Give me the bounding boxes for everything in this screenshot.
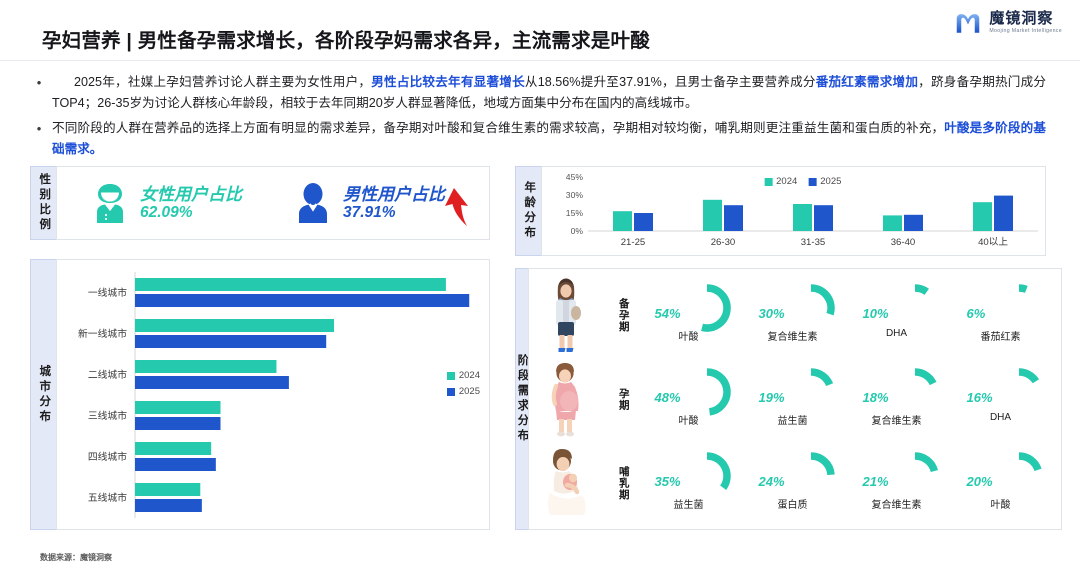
city-bar-2025-二线城市	[135, 376, 289, 389]
donut-label: DHA	[963, 412, 1039, 423]
gender-item-male: 男性用户占比 37.91%	[294, 182, 445, 224]
donut-arc-path	[702, 288, 727, 328]
data-source-note: 数据来源：魔镜洞察	[40, 552, 112, 563]
donut-percent: 16%	[967, 390, 993, 405]
donut-label: 叶酸	[963, 496, 1039, 511]
bullet-highlight: 男性占比较去年有显著增长	[371, 75, 525, 89]
male-label: 男性用户占比 37.91%	[343, 185, 445, 221]
donut-percent: 20%	[967, 474, 993, 489]
city-panel-tab: 城市分布	[30, 259, 56, 530]
city-bar-2024-四线城市	[135, 442, 211, 455]
male-name: 男性用户占比	[343, 185, 445, 204]
donut-percent: 35%	[655, 474, 681, 489]
stage-panel-body: 备孕期54%叶酸30%复合维生素10%DHA6%番茄红素孕期48%叶酸19%益生…	[528, 268, 1062, 530]
age-panel-tab: 年龄分布	[515, 166, 541, 256]
age-panel-tab-label: 年龄分布	[523, 181, 535, 241]
brand-text: 魔镜洞察 Moojing Market Intelligence	[989, 11, 1062, 35]
donut-percent: 19%	[759, 390, 785, 405]
donut-arc-path	[707, 456, 727, 488]
bullet-dot: •	[34, 72, 44, 114]
age-bar-2024-31-35	[793, 204, 812, 231]
city-chart-svg: 一线城市新一线城市二线城市三线城市四线城市五线城市	[57, 260, 489, 529]
age-bar-2025-40以上	[994, 196, 1013, 231]
donut-cell: 54%叶酸	[645, 278, 749, 352]
age-ytick-label: 30%	[566, 190, 584, 200]
city-bar-2025-新一线城市	[135, 335, 326, 348]
donut-group: 35%益生菌24%蛋白质21%复合维生素20%叶酸	[645, 446, 1061, 520]
stage-row: 备孕期54%叶酸30%复合维生素10%DHA6%番茄红素	[529, 273, 1061, 357]
age-bar-2024-36-40	[883, 215, 902, 231]
legend-item-2025: 2025	[447, 386, 480, 397]
brand-subtitle: Moojing Market Intelligence	[989, 29, 1062, 35]
donut-arc-path	[915, 372, 933, 383]
donut-arc-path	[915, 288, 927, 292]
age-xtick-label: 36-40	[891, 237, 916, 248]
female-value: 62.09%	[140, 204, 242, 221]
legend-item-2025: 2025	[808, 176, 841, 187]
legend-label-2024: 2024	[776, 176, 797, 187]
legend-item-2024: 2024	[764, 176, 797, 187]
bullet-highlight: 番茄红素需求增加	[816, 75, 918, 89]
stage-demand-panel: 阶段需求分布 备孕期54%叶酸30%复合维生素10%DHA6%番茄红素孕期48%…	[515, 268, 1046, 530]
legend-label-2025: 2025	[820, 176, 841, 187]
donut-cell: 10%DHA	[853, 278, 957, 352]
donut-cell: 20%叶酸	[957, 446, 1061, 520]
donut-percent: 10%	[863, 306, 889, 321]
age-xtick-label: 40以上	[978, 237, 1008, 248]
legend-swatch-2025	[447, 388, 455, 396]
male-value: 37.91%	[343, 204, 445, 221]
gender-panel-body: 女性用户占比 62.09% 男性用户占比 37.91%	[56, 166, 490, 240]
age-bar-2024-40以上	[973, 202, 992, 231]
city-panel-body: 一线城市新一线城市二线城市三线城市四线城市五线城市 2024 2025	[56, 259, 490, 530]
age-distribution-panel: 年龄分布 45%30%15%0%21-2526-3031-3536-4040以上…	[515, 166, 1046, 256]
age-bar-2024-26-30	[703, 200, 722, 231]
age-ytick-label: 45%	[566, 172, 584, 182]
female-user-icon	[91, 182, 129, 224]
donut-cell: 6%番茄红素	[957, 278, 1061, 352]
bullet-dot: •	[34, 118, 44, 160]
donut-group: 54%叶酸30%复合维生素10%DHA6%番茄红素	[645, 278, 1061, 352]
bullet-text: 不同阶段的人群在营养品的选择上方面有明显的需求差异，备孕期对叶酸和复合维生素的需…	[52, 118, 1046, 160]
legend-swatch-2024	[764, 178, 772, 186]
age-xtick-label: 26-30	[711, 237, 736, 248]
city-panel-tab-label: 城市分布	[38, 365, 50, 425]
nursing-mother-illustration	[529, 447, 603, 519]
donut-percent: 6%	[967, 306, 986, 321]
city-ytick-label: 二线城市	[88, 368, 127, 381]
legend-swatch-2025	[808, 178, 816, 186]
city-bar-2025-五线城市	[135, 499, 202, 512]
donut-percent: 24%	[759, 474, 785, 489]
gender-panel-tab: 性别比例	[30, 166, 56, 240]
city-ytick-label: 新一线城市	[78, 327, 127, 340]
title-divider	[0, 60, 1080, 61]
brand-name: 魔镜洞察	[989, 11, 1062, 28]
donut-cell: 16%DHA	[957, 362, 1061, 436]
donut-cell: 18%复合维生素	[853, 362, 957, 436]
donut-arc-path	[1019, 456, 1038, 470]
donut-arc-path	[915, 456, 934, 471]
gender-panel-tab-label: 性别比例	[38, 173, 50, 233]
city-bar-2025-四线城市	[135, 458, 216, 471]
stage-label-text: 哺乳期	[618, 466, 629, 501]
city-bar-2025-三线城市	[135, 417, 221, 430]
city-bar-2024-二线城市	[135, 360, 276, 373]
donut-label: 叶酸	[651, 328, 727, 343]
moojing-m-logo-icon	[953, 8, 983, 38]
female-label: 女性用户占比 62.09%	[140, 185, 242, 221]
donut-label: 叶酸	[651, 412, 727, 427]
donut-arc-path	[811, 372, 830, 385]
bullet-plain: 从18.56%提升至37.91%，且男士备孕主要营养成分	[525, 75, 816, 89]
stage-row: 哺乳期35%益生菌24%蛋白质21%复合维生素20%叶酸	[529, 441, 1061, 525]
stage-label: 孕期	[603, 388, 645, 411]
donut-label: 复合维生素	[859, 496, 935, 511]
gender-item-female: 女性用户占比 62.09%	[91, 182, 242, 224]
age-bar-2025-21-25	[634, 213, 653, 231]
donut-label: 番茄红素	[963, 328, 1039, 343]
pregnant-woman-illustration	[529, 361, 603, 437]
donut-percent: 18%	[863, 390, 889, 405]
stage-row-list: 备孕期54%叶酸30%复合维生素10%DHA6%番茄红素孕期48%叶酸19%益生…	[529, 269, 1061, 529]
male-user-icon	[294, 182, 332, 224]
city-ytick-label: 五线城市	[88, 491, 127, 504]
stage-panel-tab-label: 阶段需求分布	[516, 354, 528, 444]
donut-arc-path	[707, 372, 727, 412]
age-bar-2025-36-40	[904, 215, 923, 231]
age-xtick-label: 31-35	[801, 237, 826, 248]
donut-label: 复合维生素	[755, 328, 831, 343]
bullet-item: • 2025年，社媒上孕妇营养讨论人群主要为女性用户，男性占比较去年有显著增长从…	[34, 72, 1046, 114]
bullet-plain: 不同阶段的人群在营养品的选择上方面有明显的需求差异，备孕期对叶酸和复合维生素的需…	[52, 121, 944, 135]
city-bar-2025-一线城市	[135, 294, 469, 307]
stage-row: 孕期48%叶酸19%益生菌18%复合维生素16%DHA	[529, 357, 1061, 441]
age-bar-chart: 45%30%15%0%21-2526-3031-3536-4040以上 2024…	[542, 167, 1045, 255]
stage-label: 哺乳期	[603, 466, 645, 501]
donut-cell: 21%复合维生素	[853, 446, 957, 520]
stage-label: 备孕期	[603, 298, 645, 333]
slide-page: 魔镜洞察 Moojing Market Intelligence 孕妇营养 | …	[0, 0, 1080, 579]
donut-percent: 21%	[863, 474, 889, 489]
donut-label: 益生菌	[755, 412, 831, 427]
donut-percent: 30%	[759, 306, 785, 321]
donut-label: 益生菌	[651, 496, 727, 511]
city-bar-chart: 一线城市新一线城市二线城市三线城市四线城市五线城市 2024 2025	[57, 260, 489, 529]
donut-arc-path	[1019, 372, 1036, 381]
legend-item-2024: 2024	[447, 370, 480, 381]
legend-label-2025: 2025	[459, 386, 480, 397]
donut-arc-path	[811, 456, 831, 475]
donut-label: 蛋白质	[755, 496, 831, 511]
donut-cell: 30%复合维生素	[749, 278, 853, 352]
city-ytick-label: 三线城市	[88, 409, 127, 422]
city-bar-2024-三线城市	[135, 401, 221, 414]
page-title: 孕妇营养 | 男性备孕需求增长，各阶段孕妈需求各异，主流需求是叶酸	[42, 24, 650, 53]
donut-percent: 48%	[655, 390, 681, 405]
city-ytick-label: 一线城市	[88, 286, 127, 299]
age-bar-2025-26-30	[724, 205, 743, 231]
city-distribution-panel: 城市分布 一线城市新一线城市二线城市三线城市四线城市五线城市 2024 2025	[30, 259, 490, 530]
female-name: 女性用户占比	[140, 185, 242, 204]
city-chart-legend: 2024 2025	[447, 370, 480, 397]
age-panel-body: 45%30%15%0%21-2526-3031-3536-4040以上 2024…	[541, 166, 1046, 256]
donut-cell: 35%益生菌	[645, 446, 749, 520]
age-ytick-label: 0%	[571, 226, 584, 236]
city-bar-2024-五线城市	[135, 483, 200, 496]
donut-arc-path	[1019, 288, 1026, 289]
city-bar-2024-新一线城市	[135, 319, 334, 332]
stage-label-text: 孕期	[618, 388, 629, 411]
stage-label-text: 备孕期	[618, 298, 629, 333]
age-xtick-label: 21-25	[621, 237, 646, 248]
bullet-item: • 不同阶段的人群在营养品的选择上方面有明显的需求差异，备孕期对叶酸和复合维生素…	[34, 118, 1046, 160]
age-chart-legend: 2024 2025	[764, 176, 841, 187]
donut-cell: 24%蛋白质	[749, 446, 853, 520]
age-bar-2024-21-25	[613, 211, 632, 231]
donut-label: 复合维生素	[859, 412, 935, 427]
brand-logo: 魔镜洞察 Moojing Market Intelligence	[953, 8, 1062, 38]
age-ytick-label: 15%	[566, 208, 584, 218]
donut-percent: 54%	[655, 306, 681, 321]
red-up-arrow-icon	[437, 186, 471, 228]
legend-label-2024: 2024	[459, 370, 480, 381]
gender-ratio-panel: 性别比例 女性用户占比 62.09%	[30, 166, 490, 240]
legend-swatch-2024	[447, 372, 455, 380]
stage-panel-tab: 阶段需求分布	[515, 268, 528, 530]
donut-group: 48%叶酸19%益生菌18%复合维生素16%DHA	[645, 362, 1061, 436]
city-bar-2024-一线城市	[135, 278, 446, 291]
donut-cell: 48%叶酸	[645, 362, 749, 436]
age-bar-2025-31-35	[814, 205, 833, 231]
donut-arc-path	[811, 288, 831, 314]
bullet-text: 2025年，社媒上孕妇营养讨论人群主要为女性用户，男性占比较去年有显著增长从18…	[52, 72, 1046, 114]
donut-label: DHA	[859, 328, 935, 339]
highlight-annotation	[437, 186, 471, 233]
donut-cell: 19%益生菌	[749, 362, 853, 436]
city-ytick-label: 四线城市	[88, 450, 127, 463]
summary-bullets: • 2025年，社媒上孕妇营养讨论人群主要为女性用户，男性占比较去年有显著增长从…	[34, 72, 1046, 164]
woman-standing-illustration	[529, 277, 603, 353]
bullet-plain: 2025年，社媒上孕妇营养讨论人群主要为女性用户，	[74, 75, 371, 89]
